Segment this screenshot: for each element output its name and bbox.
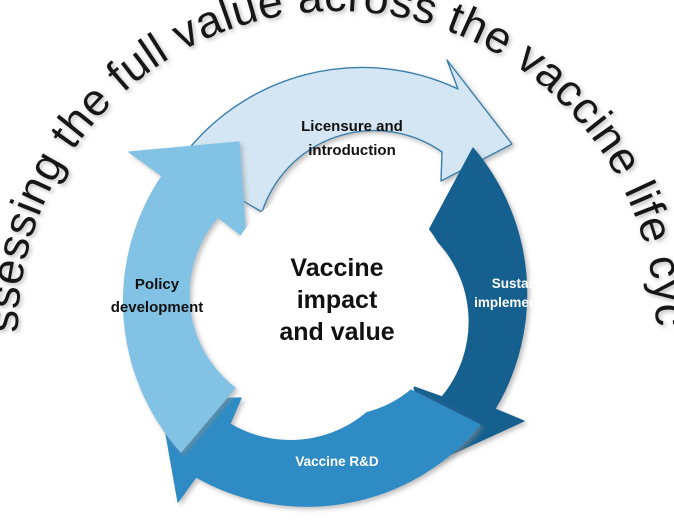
center-label-line3: and value [279, 318, 394, 346]
center-label-line1: Vaccine [290, 254, 383, 282]
segment-sustained-label-line2: implementation [474, 295, 574, 310]
center-hub: Vaccine impact and value [221, 184, 453, 416]
center-label-line2: impact [297, 286, 378, 314]
segment-licensure-label-line2: introduction [308, 142, 395, 159]
diagram-canvas: Assessing the full value across the vacc… [0, 0, 674, 530]
segment-sustained-label-line1: Sustained [492, 276, 557, 291]
segment-policy-label-line2: development [111, 299, 204, 316]
vaccine-life-cycle-diagram: Assessing the full value across the vacc… [0, 0, 674, 530]
segment-licensure-label-line1: Licensure and [301, 118, 403, 135]
segment-policy-label-line1: Policy [135, 276, 180, 293]
segment-vaccine-rd-label-line1: Vaccine R&D [295, 454, 379, 469]
